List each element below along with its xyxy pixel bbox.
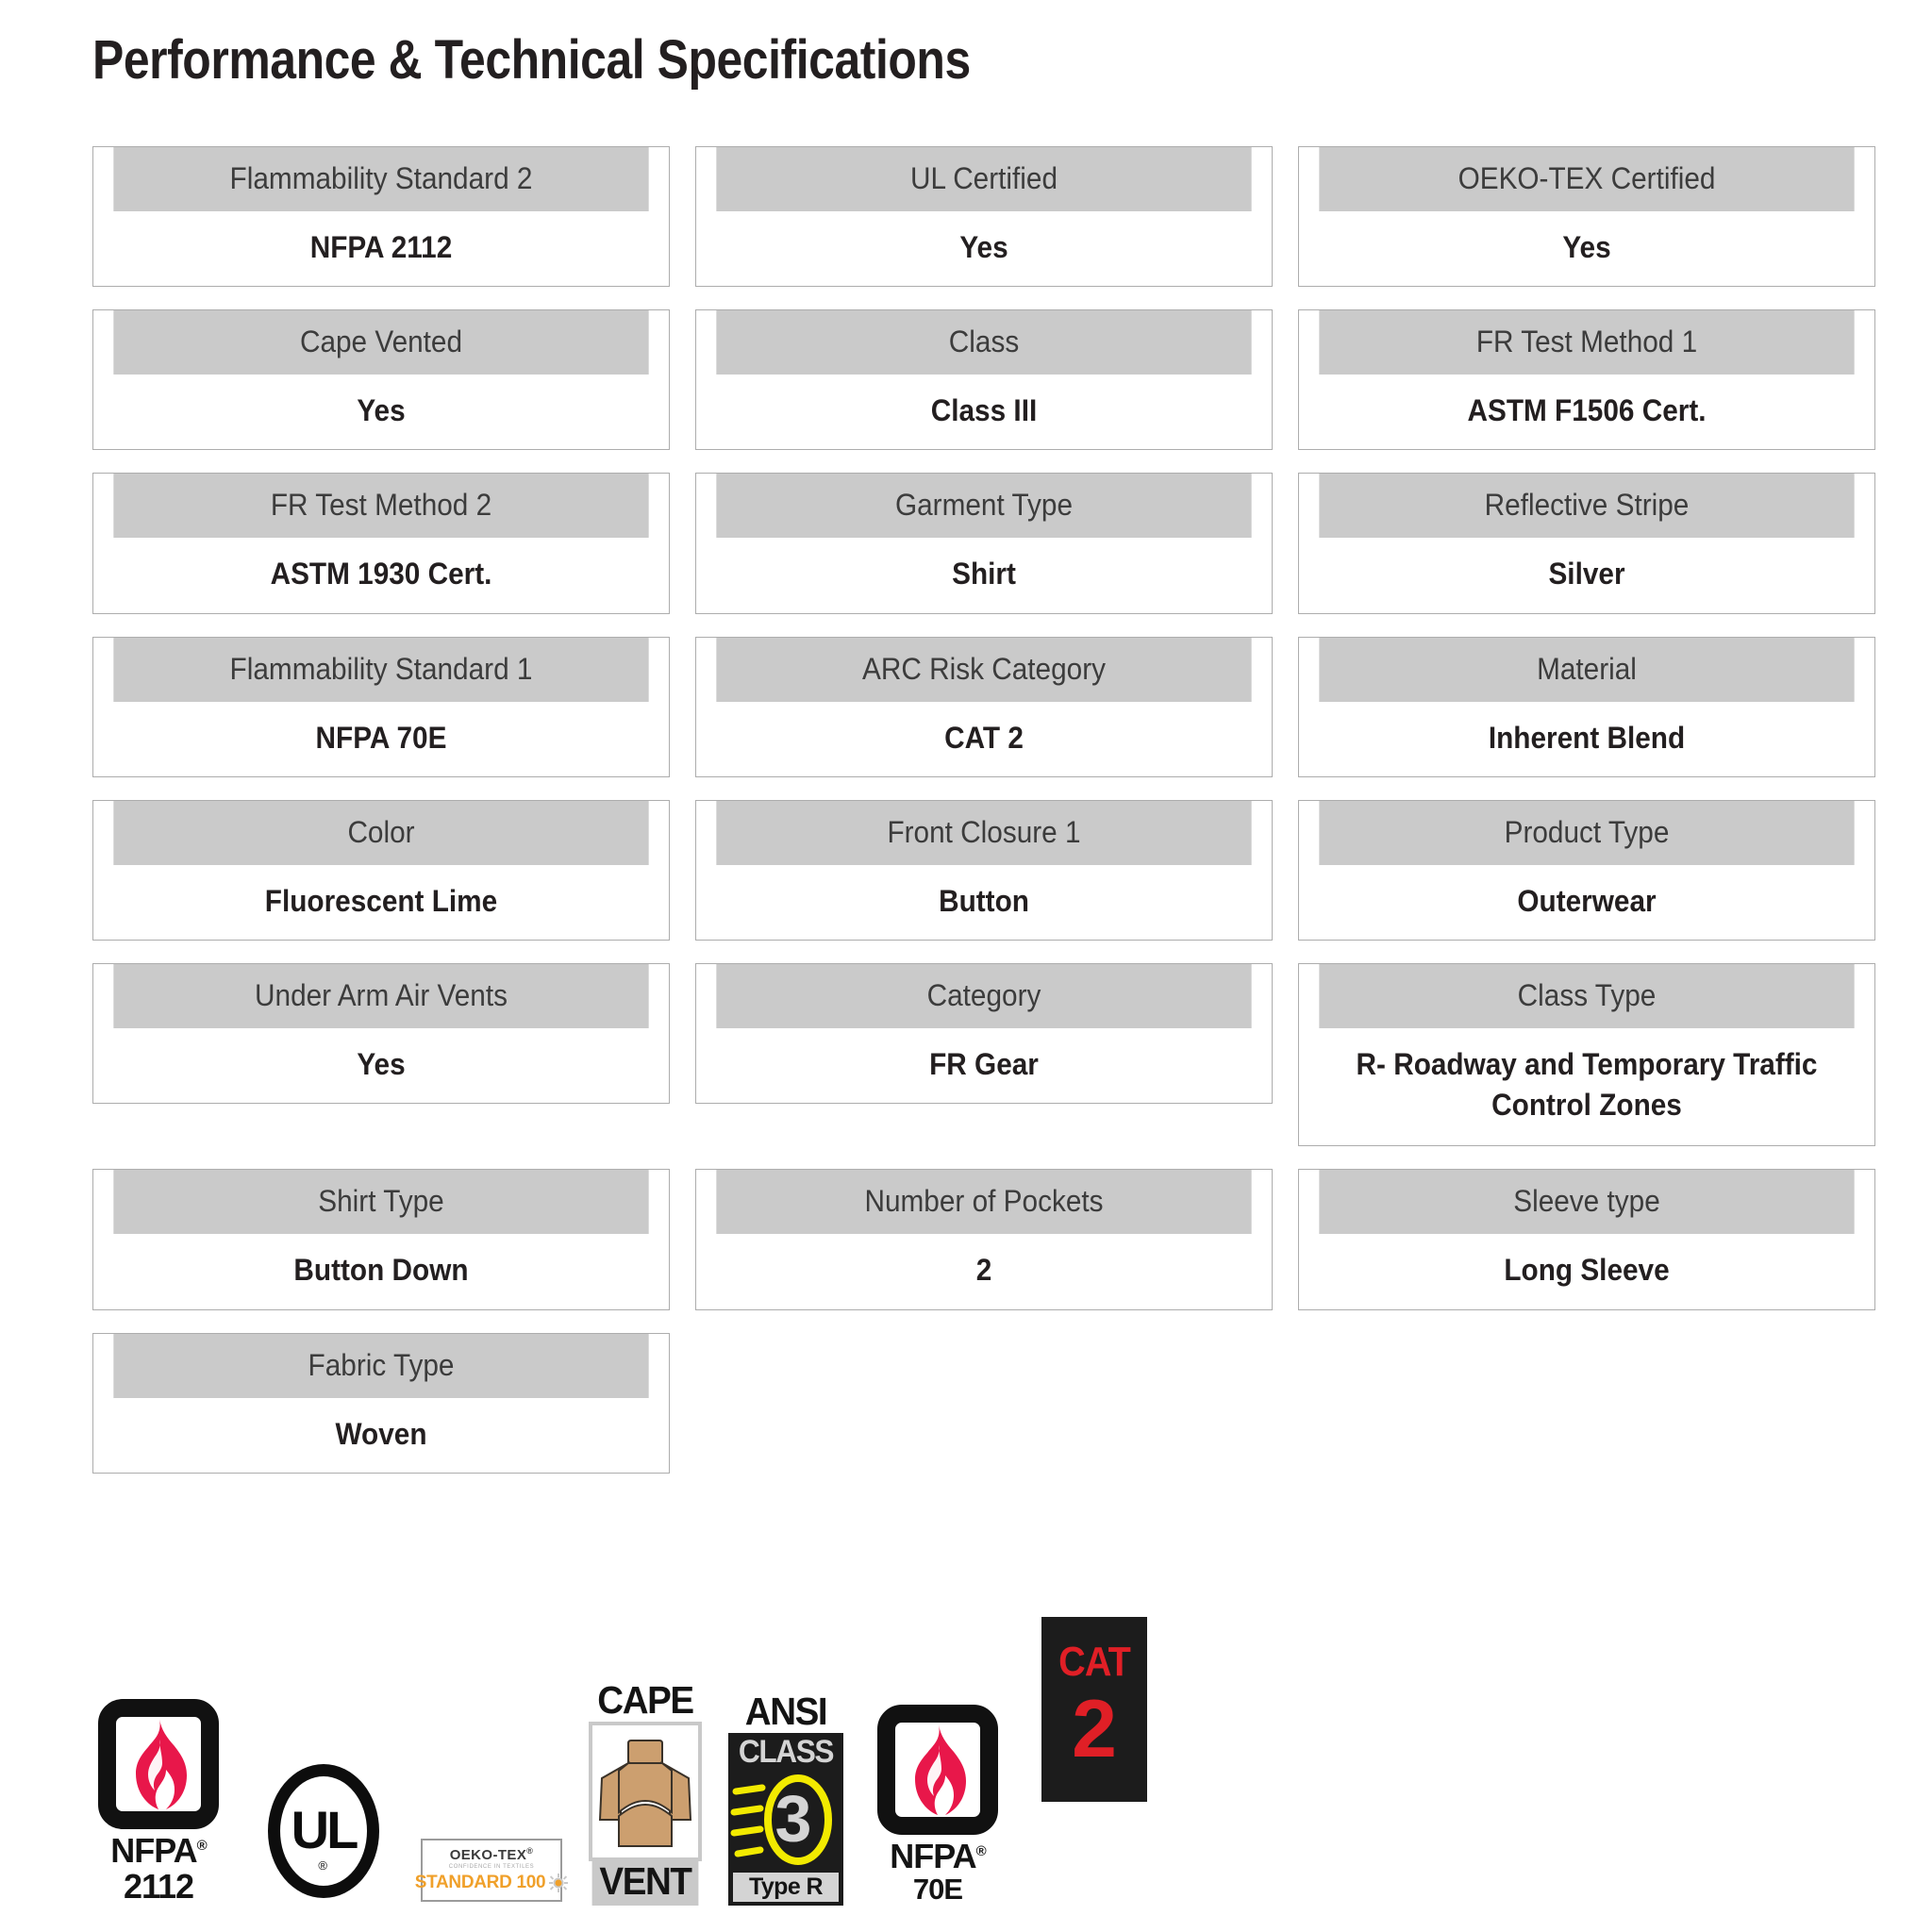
spec-card: Sleeve typeLong Sleeve (1298, 1169, 1875, 1309)
spec-label: FR Test Method 1 (1319, 310, 1854, 375)
spec-value: Woven (113, 1398, 648, 1473)
spec-card: Fabric TypeWoven (92, 1333, 670, 1474)
spec-card: ARC Risk CategoryCAT 2 (695, 637, 1273, 777)
spec-value: Yes (1319, 211, 1854, 286)
vent-label: VENT (592, 1861, 699, 1906)
spec-value: ASTM 1930 Cert. (113, 538, 648, 612)
oeko-sun-icon (549, 1874, 568, 1892)
spec-card: FR Test Method 1ASTM F1506 Cert. (1298, 309, 1875, 450)
cat-2-logo: CAT 2 (1041, 1617, 1147, 1802)
spec-label: Class Type (1319, 964, 1854, 1028)
cape-vent-logo: CAPE VENT (589, 1681, 702, 1906)
spec-card: UL CertifiedYes (695, 146, 1273, 287)
spec-value: NFPA 70E (113, 702, 648, 776)
ul-text: UL (280, 1804, 367, 1857)
spec-label: Cape Vented (113, 310, 648, 375)
cat-label: CAT (1047, 1641, 1142, 1683)
spec-value: NFPA 2112 (113, 211, 648, 286)
spec-label: Product Type (1319, 801, 1854, 865)
spec-label: Flammability Standard 2 (113, 147, 648, 211)
ul-circle-icon: UL ® (268, 1764, 379, 1898)
spec-value: FR Gear (716, 1028, 1251, 1103)
spec-card: Under Arm Air VentsYes (92, 963, 670, 1104)
spec-value: Silver (1319, 538, 1854, 612)
spec-card: ClassClass III (695, 309, 1273, 450)
spec-value: Inherent Blend (1319, 702, 1854, 776)
spec-label: Class (716, 310, 1251, 375)
spec-label: Sleeve type (1319, 1170, 1854, 1234)
spec-value: Shirt (716, 538, 1251, 612)
spec-card: MaterialInherent Blend (1298, 637, 1875, 777)
spec-label: Front Closure 1 (716, 801, 1251, 865)
ansi-type-label: Type R (733, 1873, 839, 1902)
spec-card: Garment TypeShirt (695, 473, 1273, 613)
spec-label: ARC Risk Category (716, 638, 1251, 702)
spec-value: R- Roadway and Temporary Traffic Control… (1319, 1028, 1854, 1145)
spec-label: Under Arm Air Vents (113, 964, 648, 1028)
cape-label: CAPE (592, 1681, 699, 1720)
nfpa-brand-label: NFPA® (98, 1834, 219, 1868)
oeko-tex-logo: OEKO-TEX® CONFIDENCE IN TEXTILES STANDAR… (421, 1839, 562, 1903)
spec-card: Flammability Standard 2NFPA 2112 (92, 146, 670, 287)
spec-label: Garment Type (716, 474, 1251, 538)
spec-label: FR Test Method 2 (113, 474, 648, 538)
spec-label: Number of Pockets (716, 1170, 1251, 1234)
spec-label: Flammability Standard 1 (113, 638, 648, 702)
nfpa-70e-logo: NFPA® 70E (877, 1705, 998, 1906)
spec-value: Button (716, 865, 1251, 940)
spec-value: Button Down (113, 1234, 648, 1308)
ul-registered-mark: ® (318, 1858, 327, 1873)
ansi-label: ANSI (732, 1692, 841, 1731)
cat-number: 2 (1041, 1689, 1147, 1770)
spec-card: FR Test Method 2ASTM 1930 Cert. (92, 473, 670, 613)
oeko-tex-subtitle: CONFIDENCE IN TEXTILES (428, 1864, 555, 1870)
ansi-class-word: CLASS (732, 1736, 839, 1770)
spec-label: OEKO-TEX Certified (1319, 147, 1854, 211)
ansi-class-3-logo: ANSI CLASS 3 Type R (728, 1692, 843, 1906)
spec-card: OEKO-TEX CertifiedYes (1298, 146, 1875, 287)
spec-card: Reflective StripeSilver (1298, 473, 1875, 613)
spec-card: Cape VentedYes (92, 309, 670, 450)
spec-label: Reflective Stripe (1319, 474, 1854, 538)
spec-label: UL Certified (716, 147, 1251, 211)
spec-sheet-page: Performance & Technical Specifications F… (0, 0, 1932, 1932)
certification-logo-strip: NFPA® 2112 UL ® OEKO-TEX® CONFIDENCE IN … (98, 1623, 1174, 1906)
ul-certified-logo: UL ® (268, 1764, 379, 1898)
nfpa-standard-label: 2112 (98, 1868, 219, 1906)
spec-card: CategoryFR Gear (695, 963, 1273, 1104)
spec-value: Class III (716, 375, 1251, 449)
spec-value: CAT 2 (716, 702, 1251, 776)
nfpa-2112-logo: NFPA® 2112 (98, 1699, 219, 1906)
spec-label: Shirt Type (113, 1170, 648, 1234)
nfpa-standard-label: 70E (877, 1874, 998, 1906)
spec-card: Number of Pockets2 (695, 1169, 1273, 1309)
spec-value: Yes (113, 375, 648, 449)
spec-value: Outerwear (1319, 865, 1854, 940)
spec-card: Front Closure 1Button (695, 800, 1273, 941)
flame-glyph (128, 1719, 189, 1809)
spec-card: Flammability Standard 1NFPA 70E (92, 637, 670, 777)
oeko-tex-standard: STANDARD 100 (415, 1873, 546, 1893)
spec-value: Yes (716, 211, 1251, 286)
spec-card: ColorFluorescent Lime (92, 800, 670, 941)
spec-label: Fabric Type (113, 1334, 648, 1398)
spec-value: 2 (716, 1234, 1251, 1308)
spec-card: Class TypeR- Roadway and Temporary Traff… (1298, 963, 1875, 1146)
spec-label: Material (1319, 638, 1854, 702)
nfpa-flame-icon (877, 1705, 998, 1835)
flame-glyph (908, 1724, 968, 1815)
spec-value: Fluorescent Lime (113, 865, 648, 940)
spec-card: Product TypeOuterwear (1298, 800, 1875, 941)
nfpa-brand-label: NFPA® (877, 1840, 998, 1874)
spec-value: ASTM F1506 Cert. (1319, 375, 1854, 449)
spec-label: Category (716, 964, 1251, 1028)
spec-value: Long Sleeve (1319, 1234, 1854, 1308)
shirt-back-icon (592, 1725, 698, 1857)
spec-card: Shirt TypeButton Down (92, 1169, 670, 1309)
spec-value: Yes (113, 1028, 648, 1103)
ansi-class-number: 3 (728, 1785, 843, 1851)
nfpa-flame-icon (98, 1699, 219, 1829)
specifications-grid: Flammability Standard 2NFPA 2112UL Certi… (92, 146, 1875, 1474)
spec-label: Color (113, 801, 648, 865)
page-title: Performance & Technical Specifications (92, 28, 971, 92)
oeko-tex-title: OEKO-TEX® (428, 1847, 555, 1864)
